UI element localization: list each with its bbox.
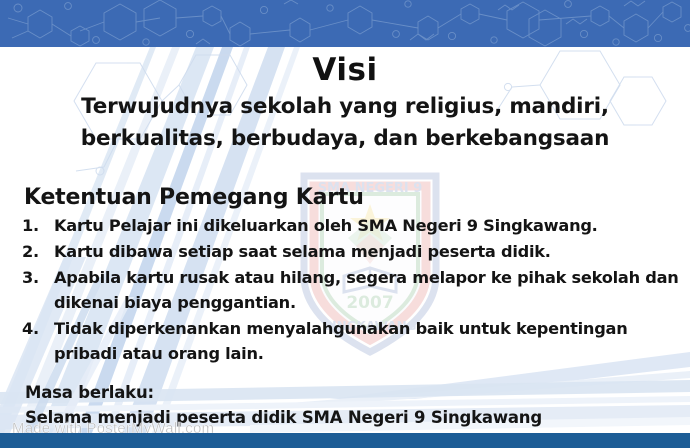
section-heading: Ketentuan Pemegang Kartu	[24, 185, 364, 210]
bottom-blue-band	[0, 433, 690, 448]
list-item-text: Kartu Pelajar ini dikeluarkan oleh SMA N…	[50, 213, 682, 238]
list-item-number: 3.	[22, 265, 46, 290]
list-item-text: Apabila kartu rusak atau hilang, segera …	[50, 265, 682, 315]
list-item-text: Kartu dibawa setiap saat selama menjadi …	[50, 239, 682, 264]
list-item: 4. Tidak diperkenankan menyalahgunakan b…	[22, 316, 682, 366]
card-content: Visi Terwujudnya sekolah yang religius, …	[0, 0, 690, 448]
list-item-number: 1.	[22, 213, 46, 238]
list-item: 2. Kartu dibawa setiap saat selama menja…	[22, 239, 682, 264]
list-item: 3. Apabila kartu rusak atau hilang, sege…	[22, 265, 682, 315]
rules-list: 1. Kartu Pelajar ini dikeluarkan oleh SM…	[22, 213, 682, 367]
list-item-number: 4.	[22, 316, 46, 341]
validity-label: Masa berlaku:	[25, 383, 154, 402]
list-item-text: Tidak diperkenankan menyalahgunakan baik…	[50, 316, 682, 366]
vision-statement-line-1: Terwujudnya sekolah yang religius, mandi…	[0, 94, 690, 119]
list-item: 1. Kartu Pelajar ini dikeluarkan oleh SM…	[22, 213, 682, 238]
id-card-back: SMA NEGERI 9 2007 SINGKAWANG Visi Terwuj…	[0, 0, 690, 448]
page-title: Visi	[0, 52, 690, 88]
list-item-number: 2.	[22, 239, 46, 264]
vision-statement-line-2: berkualitas, berbudaya, dan berkebangsaa…	[0, 126, 690, 151]
